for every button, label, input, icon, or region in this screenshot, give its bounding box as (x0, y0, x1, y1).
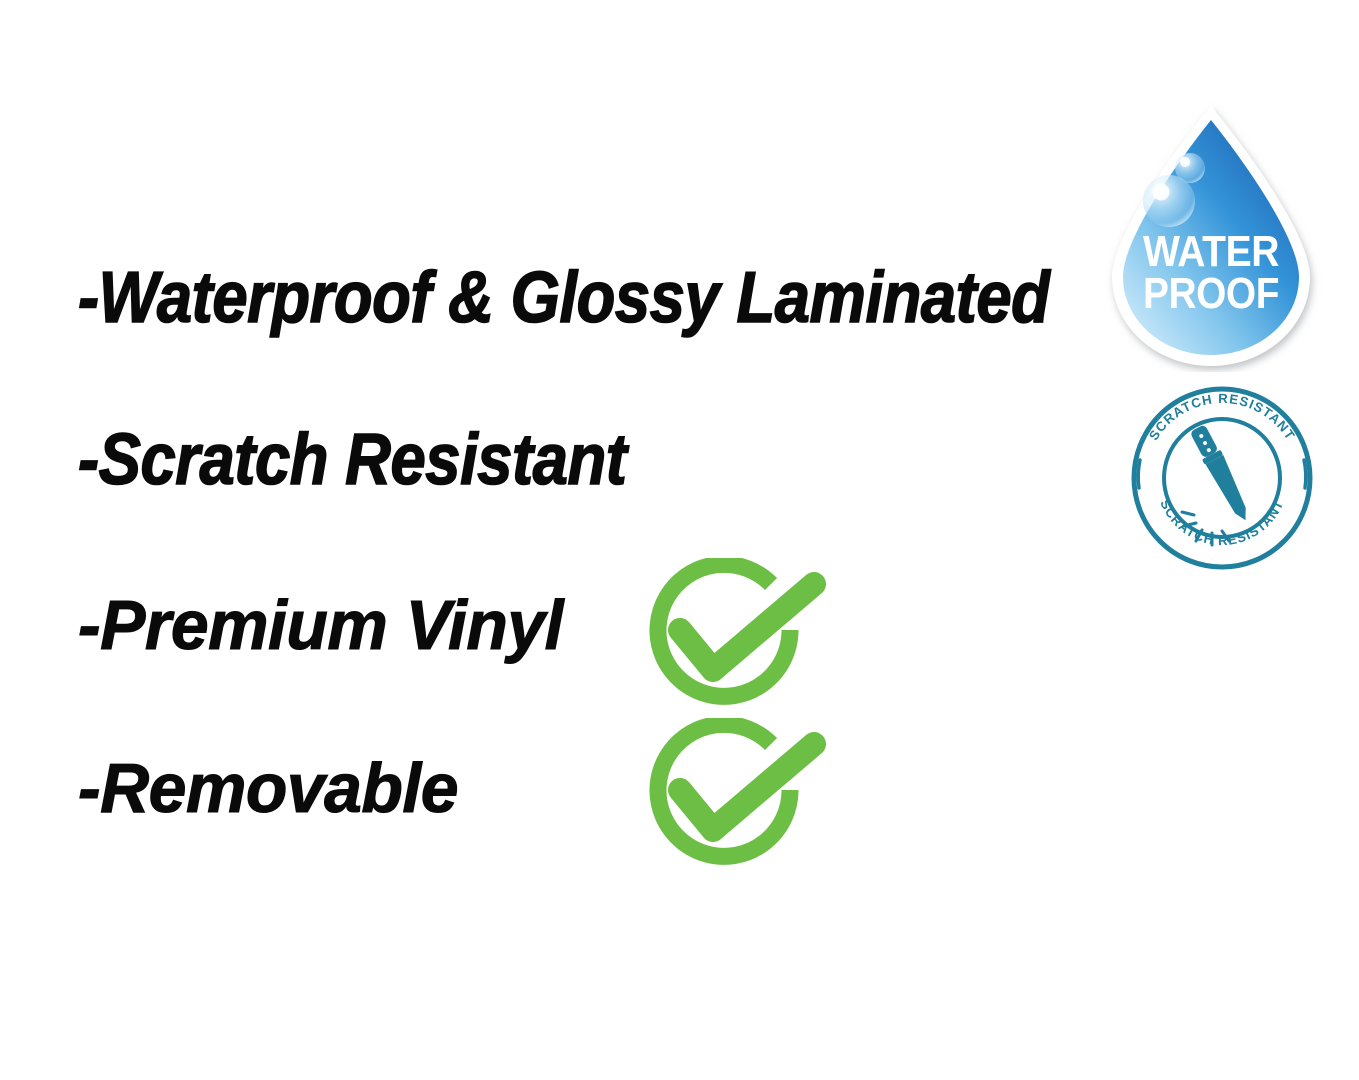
scratch-resistant-badge: SCRATCH RESISTANT SCRATCH RESISTANT (1130, 384, 1314, 570)
stamp-dash-left (1138, 460, 1140, 488)
feature-text-scratch-resistant: -Scratch Resistant (78, 424, 626, 496)
check-tick (680, 744, 814, 830)
stamp-text-top: SCRATCH RESISTANT (1146, 391, 1298, 443)
feature-graphic: -Waterproof & Glossy Laminated -Scratch … (0, 0, 1359, 1080)
check-circle-icon-premium-vinyl (640, 558, 840, 716)
waterproof-badge: WATER PROOF (1096, 100, 1326, 372)
feature-text-premium-vinyl: -Premium Vinyl (78, 590, 563, 660)
knife-icon (1188, 423, 1255, 525)
feature-text-waterproof-glossy: -Waterproof & Glossy Laminated (78, 262, 1049, 334)
check-circle-icon-removable (640, 718, 840, 876)
bubble-large (1143, 175, 1195, 227)
stamp-dash-right (1304, 460, 1306, 488)
check-tick (680, 584, 814, 670)
feature-text-removable: -Removable (78, 753, 458, 823)
waterproof-line-2: PROOF (1143, 269, 1279, 318)
stamp-text-bottom: SCRATCH RESISTANT (1157, 497, 1286, 548)
